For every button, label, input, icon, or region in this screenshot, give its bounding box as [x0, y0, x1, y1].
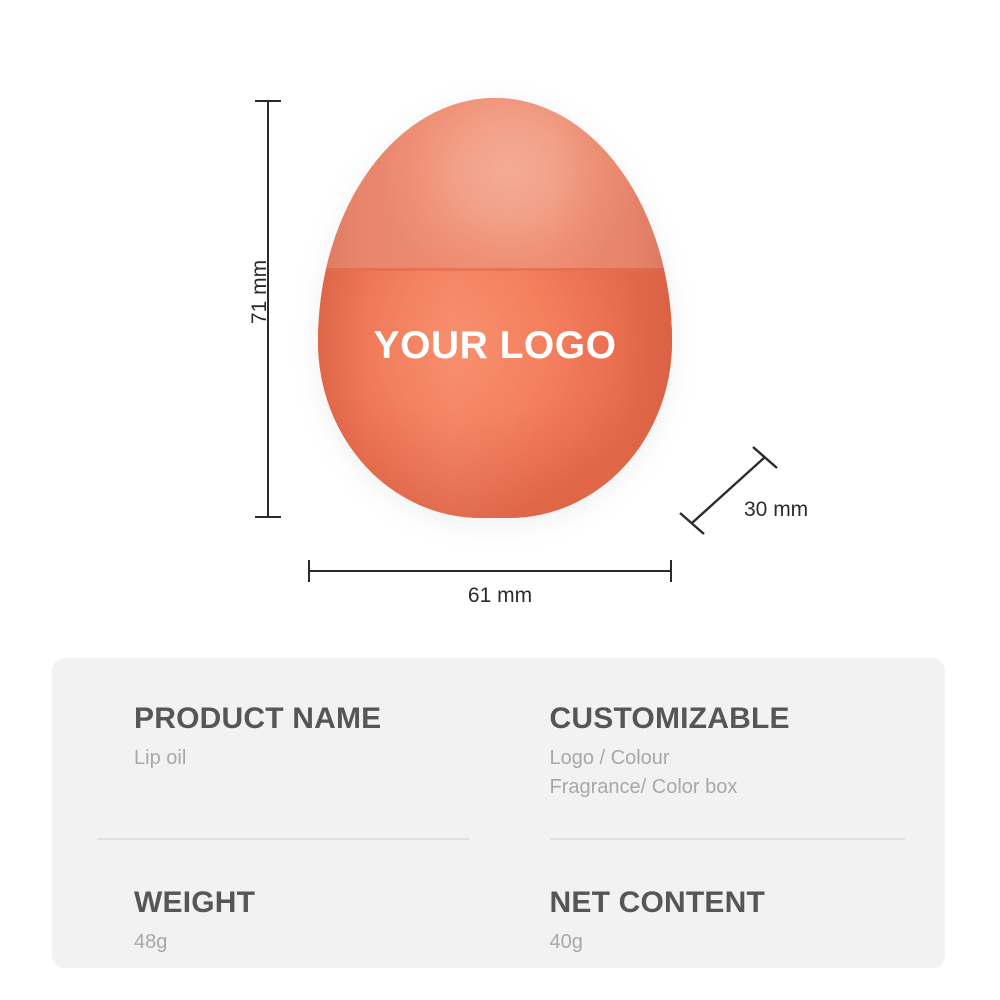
jar-lid	[318, 98, 672, 270]
specification-grid: PRODUCT NAME Lip oil CUSTOMIZABLE Logo /…	[52, 700, 945, 968]
jar-base	[318, 271, 672, 518]
spec-title-product-name: PRODUCT NAME	[134, 700, 469, 738]
spec-cell-product-name: PRODUCT NAME Lip oil	[52, 700, 499, 840]
width-dimension-cap-left	[308, 560, 310, 582]
product-image-stage: YOUR LOGO 71 mm 61 mm 30 mm	[0, 0, 1000, 640]
width-dimension-line	[308, 570, 672, 572]
spec-value-net-content: 40g	[550, 928, 916, 957]
spec-cell-customizable: CUSTOMIZABLE Logo / ColourFragrance/ Col…	[499, 700, 946, 840]
width-dimension-cap-right	[670, 560, 672, 582]
spec-cell-weight: WEIGHT 48g	[52, 840, 499, 968]
spec-title-customizable: CUSTOMIZABLE	[550, 700, 916, 738]
height-dimension-cap-top	[255, 100, 281, 102]
spec-title-weight: WEIGHT	[134, 884, 469, 922]
spec-title-net-content: NET CONTENT	[550, 884, 916, 922]
specification-panel: PRODUCT NAME Lip oil CUSTOMIZABLE Logo /…	[52, 658, 945, 968]
spec-value-product-name: Lip oil	[134, 744, 469, 773]
depth-dimension-line	[670, 445, 800, 545]
product-jar: YOUR LOGO	[318, 98, 672, 518]
spec-value-weight: 48g	[134, 928, 469, 957]
logo-placeholder-text: YOUR LOGO	[318, 326, 672, 365]
spec-value-customizable: Logo / ColourFragrance/ Color box	[550, 744, 916, 803]
height-dimension-label: 71 mm	[248, 260, 272, 324]
depth-dimension-label: 30 mm	[744, 498, 808, 522]
spec-cell-net-content: NET CONTENT 40g	[499, 840, 946, 968]
width-dimension-label: 61 mm	[0, 584, 1000, 608]
height-dimension-cap-bottom	[255, 516, 281, 518]
